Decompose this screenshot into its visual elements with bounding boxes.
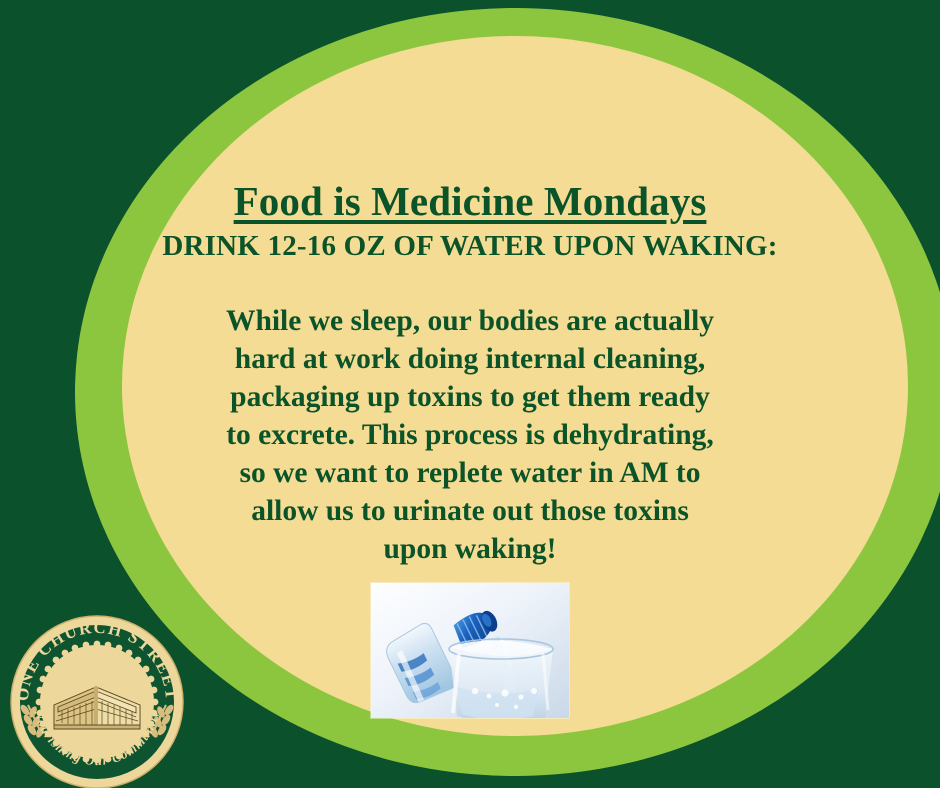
page-title: Food is Medicine Mondays (0, 179, 940, 224)
water-bottle-pouring-icon (371, 583, 569, 718)
body-line: packaging up toxins to get them ready (140, 378, 800, 416)
body-line: While we sleep, our bodies are actually (140, 302, 800, 340)
body-copy: While we sleep, our bodies are actually … (140, 302, 800, 568)
subheading: DRINK 12-16 OZ OF WATER UPON WAKING: (150, 228, 790, 265)
subheading-line: WAKING: (642, 230, 777, 262)
body-line: hard at work doing internal cleaning, (140, 340, 800, 378)
logo-seal: ONE CHURCH STREET Nourishing Our Communi… (8, 613, 186, 788)
drinking-glass (449, 639, 553, 718)
body-line: allow us to urinate out those toxins (140, 492, 800, 530)
subheading-line: DRINK 12-16 OZ OF WATER UPON (162, 230, 635, 262)
body-line: so we want to replete water in AM to (140, 454, 800, 492)
water-photo (371, 583, 569, 718)
body-line: upon waking! (140, 530, 800, 568)
poster-canvas: Food is Medicine Mondays DRINK 12-16 OZ … (0, 0, 940, 788)
poster-content: Food is Medicine Mondays DRINK 12-16 OZ … (0, 0, 940, 788)
body-line: to excrete. This process is dehydrating, (140, 416, 800, 454)
